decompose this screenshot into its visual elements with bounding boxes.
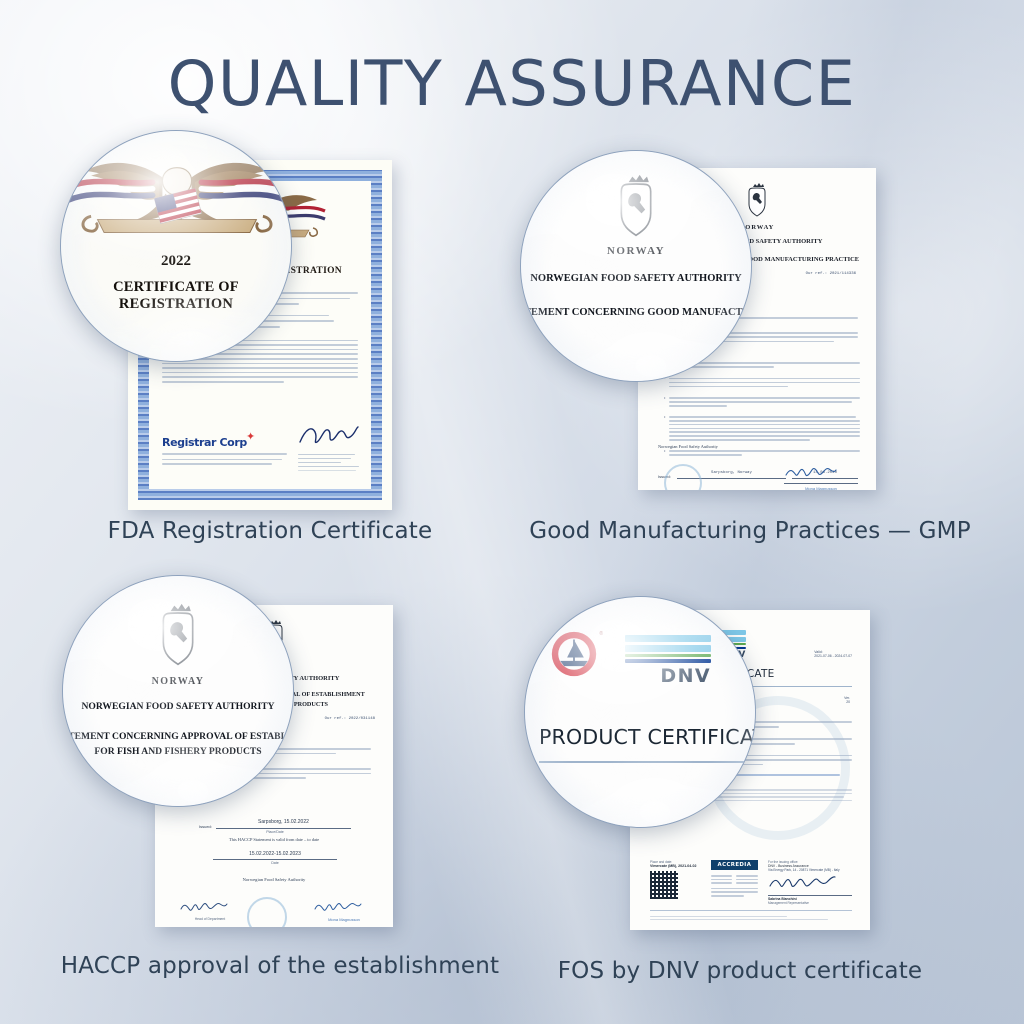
fos-magnifier-lens[interactable]: ® DNV PRODUCT CERTIFICATE [524, 596, 756, 828]
fda-heading-magnified: CERTIFICATE OF REGISTRATION [61, 279, 291, 313]
haccp-signature-1: Head of Department [179, 899, 241, 921]
fos-heading-magnified: PRODUCT CERTIFICATE [539, 725, 756, 749]
haccp-heading-line1-magnified: STATEMENT CONCERNING APPROVAL OF ESTABLI… [62, 731, 294, 742]
friend-of-the-sea-logo-magnified [551, 631, 597, 677]
gmp-magnifier-lens[interactable]: NORWAY NORWEGIAN FOOD SAFETY AUTHORITY S… [520, 150, 752, 382]
certificate-card-fos[interactable]: DNV PRODUCT CERTIFICATE Valid: 2021-07-0… [510, 590, 970, 990]
registered-trademark-icon: ® [599, 631, 603, 637]
fda-company-name: Registrar Corp [162, 436, 287, 449]
fda-lens-content: 2022 CERTIFICATE OF REGISTRATION [61, 131, 291, 361]
signature-icon [313, 900, 375, 912]
gmp-footer-authority: Norwegian Food Safety Authority [658, 444, 718, 449]
gmp-lens-content: NORWAY NORWEGIAN FOOD SAFETY AUTHORITY S… [521, 151, 751, 381]
dnv-bar-green [625, 654, 711, 657]
fos-footer: Place and date: Vimercate (MB), 2021-04-… [650, 860, 852, 905]
page-title: QUALITY ASSURANCE [0, 47, 1024, 120]
certificate-card-haccp[interactable]: NORWAY NORWEGIAN FOOD SAFETY AUTHORITY S… [50, 575, 510, 985]
norway-coat-of-arms-magnified [154, 602, 202, 673]
haccp-footer-authority: Norwegian Food Safety Authority [155, 877, 393, 882]
accredia-badge: ACCREDIA [711, 860, 758, 870]
haccp-validity-text: This HACCP Statement is valid from date … [155, 837, 393, 842]
signature-icon [179, 900, 241, 912]
haccp-ref: Our ref.: 2022/031148 [325, 717, 375, 721]
haccp-authority-magnified: NORWEGIAN FOOD SAFETY AUTHORITY [63, 701, 293, 712]
gmp-signature: Mona Magnusson [784, 464, 858, 490]
haccp-lens-content: NORWAY NORWEGIAN FOOD SAFETY AUTHORITY S… [63, 576, 293, 806]
haccp-authority-stamp [247, 897, 287, 927]
fos-lens-content: ® DNV PRODUCT CERTIFICATE [525, 597, 755, 827]
dnv-bar-dark [625, 659, 711, 663]
haccp-signature-2: Mona Magnusson [313, 899, 375, 922]
caption-fda: FDA Registration Certificate [60, 518, 480, 544]
gmp-authority-magnified: NORWEGIAN FOOD SAFETY AUTHORITY [521, 273, 751, 284]
norway-coat-of-arms-magnified [612, 173, 660, 244]
haccp-issued-row: Issued: Sarpsborg, 15.02.2022 Place/Date [199, 810, 351, 834]
dnv-wordmark-magnified: DNV [625, 665, 711, 687]
caption-haccp: HACCP approval of the establishment [50, 953, 510, 979]
fos-logo-right-magnified: DNV [625, 635, 711, 687]
signature-icon [298, 422, 360, 446]
fos-version: Ver. 20 [844, 696, 850, 704]
gmp-country-magnified: NORWAY [521, 245, 751, 257]
fda-magnifier-lens[interactable]: 2022 CERTIFICATE OF REGISTRATION [60, 130, 292, 362]
qr-code [650, 871, 678, 899]
haccp-magnifier-lens[interactable]: NORWAY NORWEGIAN FOOD SAFETY AUTHORITY S… [62, 575, 294, 807]
fos-valid: Valid: 2021-07-06 - 2024-07-07 [814, 650, 852, 658]
american-eagle-emblem-magnified [60, 145, 292, 239]
dnv-bar-light-2 [625, 645, 711, 652]
fda-signature-block [298, 422, 360, 474]
haccp-country-magnified: NORWAY [63, 676, 293, 687]
haccp-validity-range: 15.02.2022-15.02.2023 Date [213, 851, 337, 865]
caption-fos: FOS by DNV product certificate [510, 958, 970, 984]
gmp-ref: Our ref.: 2021/114336 [806, 272, 856, 276]
dnv-bar-light [625, 635, 711, 642]
signature-icon [768, 874, 852, 890]
fda-issuer-block: Registrar Corp ✦ [162, 436, 287, 468]
fos-logo-left-magnified: ® [551, 631, 597, 682]
fos-legal-note [650, 910, 852, 922]
fda-year-magnified: 2022 [61, 253, 291, 270]
fos-heading-rule-magnified [539, 761, 751, 763]
gmp-heading-magnified: STATEMENT CONCERNING GOOD MANUFACTURING … [520, 307, 752, 318]
signature-icon [784, 464, 858, 478]
certificate-card-gmp[interactable]: NORWAY NORWEGIAN FOOD SAFETY AUTHORITY S… [520, 150, 980, 550]
caption-gmp: Good Manufacturing Practices — GMP [520, 518, 980, 544]
star-icon: ✦ [246, 430, 255, 443]
certificate-card-fda[interactable]: 2022 CERTIFICATE OF REGISTRATION Registr… [60, 130, 480, 550]
haccp-heading-line2-magnified: FOR FISH AND FISHERY PRODUCTS [63, 746, 293, 757]
